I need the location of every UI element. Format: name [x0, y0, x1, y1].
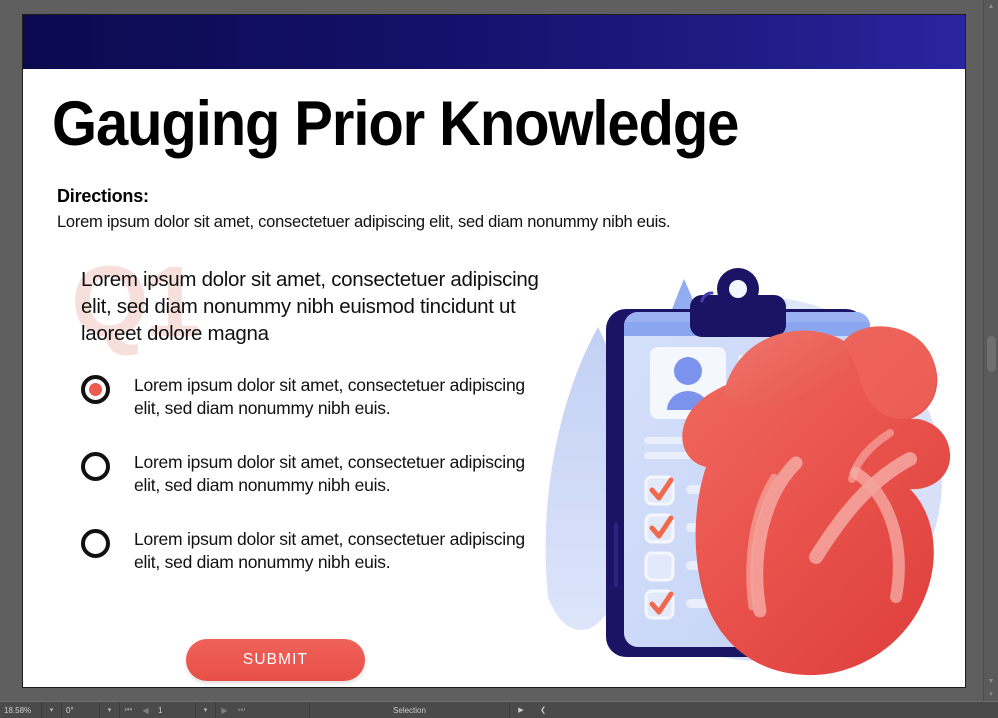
question-block: Q1 Lorem ipsum dolor sit amet, consectet…: [51, 267, 541, 348]
answer-option[interactable]: Lorem ipsum dolor sit amet, consectetuer…: [81, 450, 551, 506]
avatar-head-icon: [674, 357, 702, 385]
zoom-level-field[interactable]: 18.58%: [0, 703, 42, 718]
selection-mode-label: Selection: [310, 703, 510, 718]
scroll-up-arrow-icon[interactable]: ▲: [984, 0, 998, 13]
answer-option[interactable]: Lorem ipsum dolor sit amet, consectetuer…: [81, 527, 551, 583]
medical-clipboard-heart-illustration: [538, 267, 958, 687]
last-page-icon[interactable]: ⏭: [233, 703, 250, 718]
radio-button-empty[interactable]: [81, 529, 110, 558]
answer-options-list: Lorem ipsum dolor sit amet, consectetuer…: [81, 373, 551, 604]
next-page-icon[interactable]: ▶: [216, 703, 233, 718]
status-tail: [554, 703, 998, 718]
prev-page-icon[interactable]: ◀: [137, 703, 154, 718]
page-number-field[interactable]: 1: [154, 703, 196, 718]
radio-dot-icon: [89, 383, 102, 396]
clipboard-clip: [690, 268, 786, 337]
radio-button-empty[interactable]: [81, 452, 110, 481]
submit-button[interactable]: SUBMIT: [186, 639, 365, 681]
answer-option[interactable]: Lorem ipsum dolor sit amet, consectetuer…: [81, 373, 551, 429]
checkbox-unchecked: [646, 553, 673, 580]
application-window: Gauging Prior Knowledge Directions: Lore…: [0, 0, 998, 718]
radio-button-selected[interactable]: [81, 375, 110, 404]
zoom-dropdown-chevron-down-icon[interactable]: ▾: [42, 703, 62, 718]
slide-body: Gauging Prior Knowledge Directions: Lore…: [23, 69, 965, 687]
directions-label: Directions:: [57, 186, 149, 207]
directions-body: Lorem ipsum dolor sit amet, consectetuer…: [57, 213, 670, 232]
answer-option-label: Lorem ipsum dolor sit amet, consectetuer…: [134, 373, 551, 420]
play-arrow-icon[interactable]: ▶: [510, 703, 532, 718]
status-bar: 18.58% ▾ 0° ▾ ⏮ ◀ 1 ▾ ▶ ⏭ Selection ▶ ❮: [0, 701, 998, 718]
question-text: Lorem ipsum dolor sit amet, consectetuer…: [81, 267, 551, 348]
page-title: Gauging Prior Knowledge: [52, 93, 738, 156]
first-page-icon[interactable]: ⏮: [120, 703, 137, 718]
rotation-field[interactable]: 0°: [62, 703, 100, 718]
chevron-left-icon[interactable]: ❮: [532, 703, 554, 718]
vertical-scrollbar-thumb[interactable]: [987, 336, 996, 372]
answer-option-label: Lorem ipsum dolor sit amet, consectetuer…: [134, 450, 551, 497]
vertical-scrollbar[interactable]: ▲ ▼: [983, 0, 998, 702]
answer-option-label: Lorem ipsum dolor sit amet, consectetuer…: [134, 527, 551, 574]
rotation-dropdown-chevron-down-icon[interactable]: ▾: [100, 703, 120, 718]
scroll-down-arrow-icon[interactable]: ▼: [984, 675, 998, 688]
page-dropdown-chevron-down-icon[interactable]: ▾: [196, 703, 216, 718]
slide-header-band: [23, 15, 965, 69]
status-spacer: [250, 703, 310, 718]
scrollbar-corner-grip-icon: ▾: [984, 688, 998, 702]
document-canvas[interactable]: Gauging Prior Knowledge Directions: Lore…: [22, 14, 966, 688]
